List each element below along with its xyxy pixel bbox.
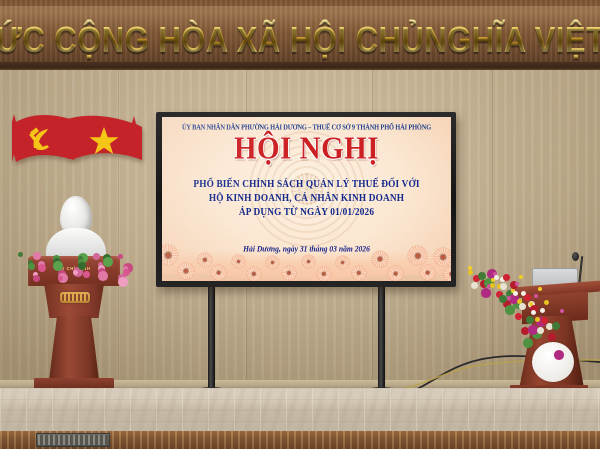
flower-blossom — [28, 263, 35, 270]
flower-blossom — [33, 252, 41, 260]
banner-subtitle-block: PHỔ BIẾN CHÍNH SÁCH QUẢN LÝ THUẾ ĐỐI VỚI… — [162, 179, 451, 221]
flower-blossom — [53, 261, 63, 271]
sunflower-motif — [372, 251, 388, 267]
flag-emblem-pair — [8, 104, 148, 176]
sunflower-motif — [266, 256, 279, 269]
flower-blossom — [98, 271, 108, 281]
sunflower-motif — [302, 255, 315, 268]
flower-blossom — [524, 294, 531, 301]
speaker-podium[interactable] — [496, 268, 600, 396]
flower-blossom — [523, 338, 533, 348]
flower-blossom — [541, 317, 548, 324]
wall-slogan-gold-letters: ỨC CỘNG HÒA XÃ HỘI CHỦ NGHĨA VIỆT NAM MU… — [0, 16, 600, 63]
flower-blossom — [529, 302, 533, 306]
stage-floor — [0, 388, 600, 433]
flower-blossom — [526, 316, 534, 324]
communist-party-flag — [12, 114, 74, 162]
flower-blossom — [503, 274, 510, 281]
sunflower-motif — [352, 266, 366, 280]
sunflower-motif — [434, 248, 451, 266]
flower-blossom — [500, 283, 507, 290]
pedestal-gold-emblem — [60, 292, 90, 303]
slogan-right-text: NGHĨA VIỆT NAM MUÔN NĂM ! — [424, 19, 600, 61]
sunflower-motif — [198, 253, 212, 267]
sunflower-motif — [211, 265, 226, 280]
pedestal-column — [49, 316, 99, 380]
sunflower-motif — [282, 266, 296, 280]
flower-blossom — [531, 310, 536, 315]
flower-blossom — [560, 309, 564, 313]
flower-blossom — [123, 269, 130, 276]
banner-sunflower-border — [162, 237, 451, 281]
banner-title: HỘI NGHỊ — [162, 134, 451, 165]
sunflower-motif — [178, 263, 194, 279]
flower-blossom — [537, 327, 544, 334]
banner-header-line: ỦY BAN NHÂN DÂN PHƯỜNG HẢI DƯƠNG – THUẾ … — [162, 123, 451, 132]
conference-hall-scene: ỨC CỘNG HÒA XÃ HỘI CHỦ NGHĨA VIỆT NAM MU… — [0, 0, 600, 449]
bust-flower-arrangement — [16, 248, 132, 282]
flower-blossom — [58, 276, 63, 281]
led-banner-screen[interactable]: ỦY BAN NHÂN DÂN PHƯỜNG HẢI DƯƠNG – THUẾ … — [156, 112, 456, 287]
sunflower-motif — [444, 266, 451, 281]
flower-blossom — [471, 282, 478, 289]
sunflower-motif — [336, 256, 349, 269]
flower-blossom — [515, 313, 522, 320]
sunflower-motif — [420, 265, 435, 280]
screen-stand-leg-left — [208, 280, 215, 390]
flower-blossom — [490, 283, 495, 288]
flower-blossom — [494, 275, 499, 280]
banner-subtitle-line-3: ÁP DỤNG TỪ NGÀY 01/01/2026 — [162, 206, 451, 222]
flower-blossom — [540, 308, 545, 313]
flower-blossom — [505, 305, 515, 315]
floor-grate — [36, 433, 110, 447]
flower-blossom — [519, 303, 526, 310]
flower-blossom — [481, 288, 491, 298]
flower-blossom — [83, 271, 90, 278]
flower-blossom — [515, 282, 519, 286]
flower-blossom — [103, 257, 113, 267]
sunflower-motif — [408, 246, 427, 265]
flower-blossom — [519, 275, 523, 279]
flower-blossom — [73, 270, 78, 275]
flower-blossom — [118, 277, 128, 287]
sunflower-motif — [247, 267, 261, 281]
slogan-left-text: ỨC CỘNG HÒA XÃ HỘI CHỦ — [0, 19, 424, 61]
sunflower-motif — [317, 267, 331, 281]
flower-blossom — [468, 270, 473, 275]
flower-blossom — [33, 275, 40, 282]
flower-blossom — [118, 254, 123, 259]
flower-blossom — [78, 262, 86, 270]
flower-blossom — [544, 300, 549, 305]
flower-blossom — [548, 333, 556, 341]
flower-blossom — [93, 253, 100, 260]
floor-tile-pattern — [0, 388, 600, 433]
podium-flower-arrangement — [468, 264, 578, 372]
flower-blossom — [507, 296, 511, 300]
led-screen-surface: ỦY BAN NHÂN DÂN PHƯỜNG HẢI DƯƠNG – THUẾ … — [162, 117, 451, 281]
flower-blossom — [554, 350, 564, 360]
ho-chi-minh-bust-group: HỒ CHÍ MINH — [16, 196, 132, 396]
screen-stand-leg-right — [378, 280, 385, 390]
flower-blossom — [534, 294, 538, 298]
microphone-head[interactable] — [572, 252, 579, 261]
flower-blossom — [18, 252, 23, 257]
flower-blossom — [38, 264, 46, 272]
sunflower-motif — [232, 255, 245, 268]
flower-blossom — [552, 322, 560, 330]
sunflower-motif — [388, 266, 403, 281]
flower-blossom — [538, 287, 542, 291]
vietnam-national-flag — [68, 116, 142, 160]
